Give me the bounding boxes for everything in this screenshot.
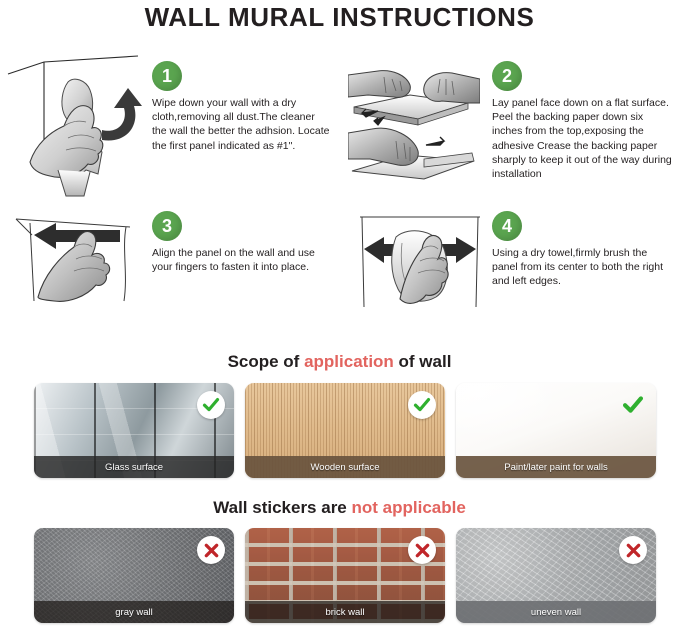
surface-card-glass[interactable]: Glass surface	[34, 383, 234, 478]
not-applicable-heading-prefix: Wall stickers are	[213, 498, 351, 517]
step-1-illustration	[6, 48, 146, 198]
surface-card-paint[interactable]: Paint/later paint for walls	[456, 383, 656, 478]
green-check-icon	[197, 391, 225, 419]
surface-card-label: Glass surface	[34, 456, 234, 478]
surface-card-uneven-wall[interactable]: uneven wall	[456, 528, 656, 623]
application-heading-highlight: application	[304, 352, 394, 371]
application-heading-prefix: Scope of	[228, 352, 305, 371]
page-title: WALL MURAL INSTRUCTIONS	[0, 2, 679, 33]
surface-card-label: Paint/later paint for walls	[456, 456, 656, 478]
step-3-badge: 3	[152, 211, 182, 241]
surface-card-label: gray wall	[34, 601, 234, 623]
wall-mural-instructions-page: WALL MURAL INSTRUCTIONS	[0, 0, 679, 630]
step-3-illustration	[8, 205, 146, 305]
surface-card-label: brick wall	[245, 601, 445, 623]
step-2-badge: 2	[492, 61, 522, 91]
step-2-text: Lay panel face down on a flat surface. P…	[492, 96, 675, 181]
surface-card-label: Wooden surface	[245, 456, 445, 478]
step-4-badge: 4	[492, 211, 522, 241]
not-applicable-heading-highlight: not applicable	[352, 498, 466, 517]
step-1-text: Wipe down your wall with a dry cloth,rem…	[152, 96, 332, 153]
surface-card-label: uneven wall	[456, 601, 656, 623]
step-3-text: Align the panel on the wall and use your…	[152, 246, 332, 274]
step-4-illustration	[350, 203, 490, 311]
step-4-text: Using a dry towel,firmly brush the panel…	[492, 246, 675, 289]
not-applicable-heading: Wall stickers are not applicable	[0, 498, 679, 518]
red-cross-icon	[619, 536, 647, 564]
application-heading-suffix: of wall	[394, 352, 452, 371]
green-check-icon	[408, 391, 436, 419]
green-check-icon	[619, 391, 647, 419]
surface-card-gray-wall[interactable]: gray wall	[34, 528, 234, 623]
red-cross-icon	[197, 536, 225, 564]
surface-card-brick-wall[interactable]: brick wall	[245, 528, 445, 623]
application-heading: Scope of application of wall	[0, 352, 679, 372]
step-2-illustration	[348, 55, 480, 187]
red-cross-icon	[408, 536, 436, 564]
step-1-badge: 1	[152, 61, 182, 91]
surface-card-wooden[interactable]: Wooden surface	[245, 383, 445, 478]
